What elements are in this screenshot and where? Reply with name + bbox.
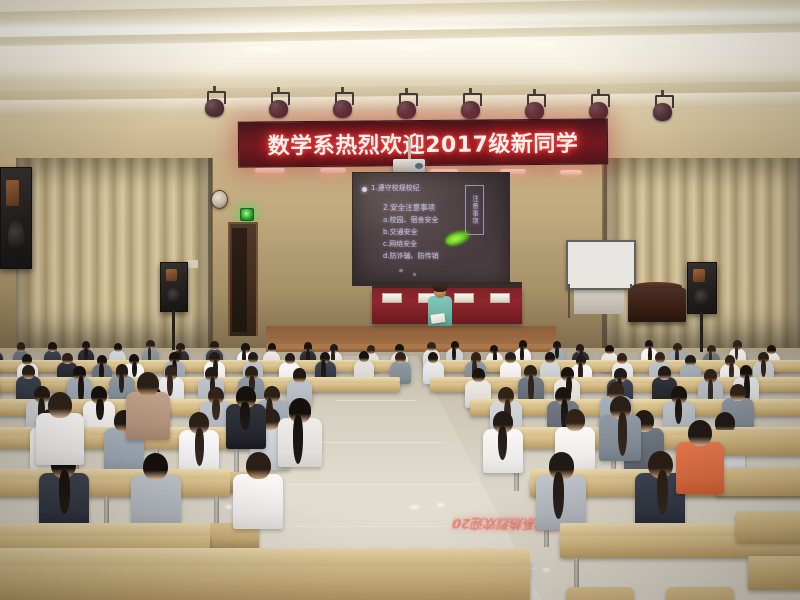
speaker-person-hair <box>433 283 447 292</box>
lecture-desk-right <box>748 556 800 590</box>
student-ponytail <box>657 470 668 515</box>
student-head <box>137 372 159 396</box>
curtain-edge <box>208 158 213 348</box>
student-head <box>685 355 695 366</box>
student-head <box>248 352 258 363</box>
foreground-desk-worktop <box>0 548 530 566</box>
student-head <box>617 353 627 364</box>
screen-speck <box>399 269 403 272</box>
student-ponytail <box>212 399 219 420</box>
student-head <box>268 343 276 352</box>
student-ponytail <box>761 360 766 377</box>
loudspeaker-right-stand <box>687 262 717 314</box>
student-torso <box>126 392 170 440</box>
door-opening <box>232 228 247 332</box>
ceiling-light <box>650 38 692 45</box>
student-head <box>285 353 295 364</box>
speaker-horn <box>693 269 705 282</box>
slide-line-2: 2.安全注意事项 <box>383 202 435 213</box>
ceiling-light <box>390 44 440 51</box>
student-head <box>62 353 72 364</box>
loudspeaker-left-wall <box>0 167 32 269</box>
stage-spotlight <box>269 92 288 118</box>
stage-curtain-left <box>16 158 212 348</box>
table-nameplate <box>454 293 474 303</box>
wall-lamp <box>255 168 285 173</box>
spotlight-lamp <box>269 100 288 118</box>
ceiling-light <box>760 36 790 43</box>
speaker-horn <box>166 269 177 281</box>
lecture-desk <box>0 478 230 497</box>
slide-line-3: a.校园、宿舍安全 <box>383 215 439 225</box>
stage-spotlight <box>333 92 352 118</box>
spotlight-lamp <box>461 101 480 119</box>
student-head <box>48 342 56 351</box>
student-head <box>655 352 665 363</box>
slide-bullet-icon <box>362 187 367 192</box>
upright-piano <box>628 288 686 322</box>
student-head <box>293 368 306 382</box>
student-head <box>545 352 555 363</box>
spotlight-lamp <box>653 103 672 121</box>
slide-line-6: d.防诈骗、防传销 <box>383 251 439 261</box>
stage-spotlight <box>653 95 672 121</box>
whiteboard <box>566 240 636 290</box>
student-head <box>605 345 613 354</box>
stage-spotlight <box>397 93 416 119</box>
student-head <box>565 409 585 431</box>
student-head <box>505 352 515 363</box>
speaker-stand-right <box>700 312 703 354</box>
table-nameplate <box>382 293 402 303</box>
floor-tile-seam <box>336 400 416 401</box>
wall-clock <box>211 190 228 209</box>
stage-spotlight <box>461 93 480 119</box>
ceiling-light <box>520 41 566 48</box>
student-head <box>427 342 435 351</box>
floor-highlight <box>542 568 550 572</box>
student-head <box>395 352 405 363</box>
desk-worktop <box>0 523 210 536</box>
speaker-person-papers <box>430 313 445 324</box>
student-head <box>17 342 25 351</box>
spotlight-lamp <box>397 101 416 119</box>
student-head <box>730 384 746 402</box>
wall-lamp <box>320 168 346 173</box>
student-torso <box>36 413 83 465</box>
student-torso <box>233 474 283 529</box>
projection-screen: 1.遵守校规校纪 2.安全注意事项 a.校园、宿舍安全 b.交通安全 c.网络安… <box>352 172 510 286</box>
spotlight-lamp <box>333 100 352 118</box>
student-ponytail <box>132 362 137 377</box>
student-head <box>48 392 72 418</box>
student-head <box>767 345 775 354</box>
desk-worktop <box>0 469 230 479</box>
slide-line-4: b.交通安全 <box>383 227 418 237</box>
loudspeaker-left-stand <box>160 262 188 312</box>
slide-line-1: 1.遵守校规校纪 <box>371 183 420 193</box>
stage-spotlight <box>205 91 224 117</box>
projector-lens <box>415 163 423 169</box>
speaker-woofer <box>8 220 25 254</box>
student-head <box>210 341 218 350</box>
lecture-hall-photo: 数学系热烈欢迎2017级新同学 1.遵守校规校纪 2.安全注意事项 a.校园、宿… <box>0 0 800 600</box>
screen-speck <box>413 273 416 276</box>
student-torso <box>131 475 181 530</box>
student-head <box>658 366 671 380</box>
wall-plate <box>187 260 198 268</box>
led-banner-text: 数学系热烈欢迎2017级新同学 <box>267 126 578 161</box>
student-ponytail <box>96 399 103 421</box>
floor-highlight <box>410 505 419 509</box>
slide-line-5: c.网络安全 <box>383 239 417 249</box>
floor-tile-seam <box>306 442 446 443</box>
student-head <box>143 453 168 481</box>
spotlight-lamp <box>525 102 544 120</box>
table-nameplate <box>490 293 510 303</box>
stage-spotlight <box>589 94 608 120</box>
lecture-desk-right <box>736 512 800 542</box>
lecture-desk-right <box>716 468 800 496</box>
wall-lamp <box>560 170 582 175</box>
student-ponytail <box>195 428 204 467</box>
stage-spotlight <box>525 94 544 120</box>
student-ponytail <box>167 375 173 396</box>
floor-highlight <box>437 503 444 507</box>
student-ponytail <box>240 402 249 431</box>
slide-vertical-text: 注意事项 <box>470 195 480 225</box>
foreground-desk <box>0 560 530 600</box>
spotlight-lamp <box>205 99 224 117</box>
speaker-woofer <box>694 289 710 306</box>
floor-tile-seam <box>276 484 476 485</box>
ceiling-light <box>240 46 295 53</box>
student-head <box>22 354 32 365</box>
student-head <box>114 343 122 352</box>
student-torso <box>676 442 724 495</box>
exit-sign-icon <box>240 208 254 221</box>
student-head <box>22 365 35 379</box>
student-head <box>472 368 485 382</box>
seat-back <box>566 587 634 600</box>
speaker-horn <box>6 180 19 206</box>
whiteboard-base <box>574 286 624 314</box>
student-head <box>246 452 271 480</box>
speaker-woofer <box>167 288 182 304</box>
student-head <box>688 420 712 446</box>
speaker-stand-left <box>172 310 175 350</box>
whiteboard-leg <box>568 284 570 318</box>
seat-back <box>666 587 734 600</box>
student-head <box>359 351 369 362</box>
